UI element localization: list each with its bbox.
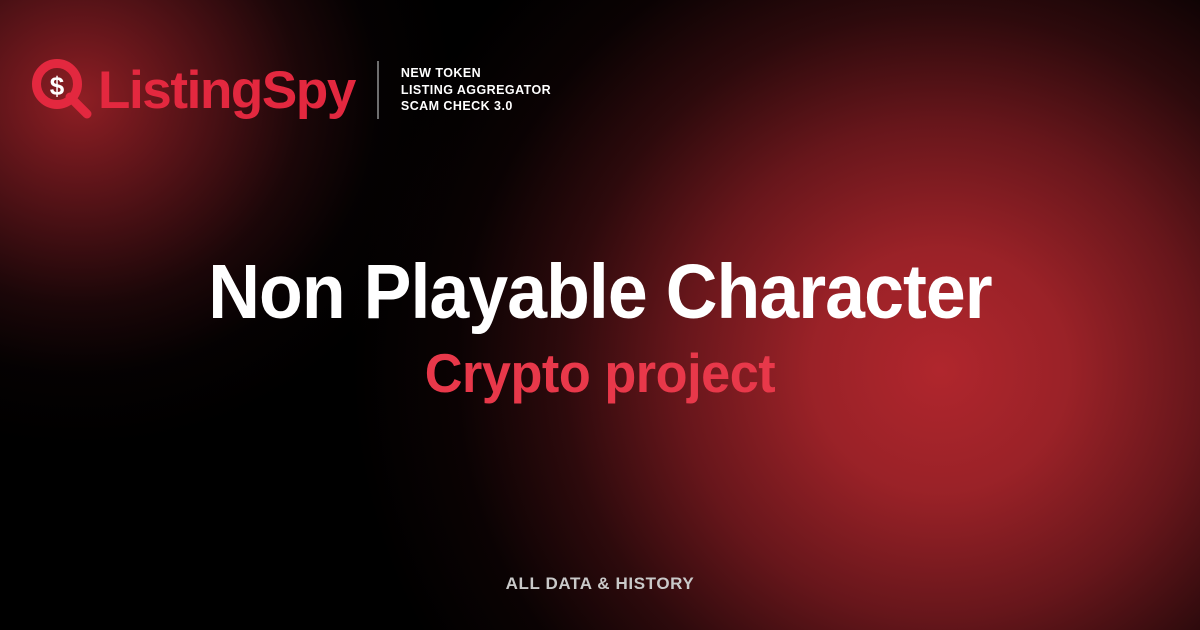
svg-text:$: $: [50, 71, 65, 101]
page-title: Non Playable Character: [42, 248, 1158, 336]
tagline-line-3: SCAM CHECK 3.0: [401, 98, 551, 115]
headline-block: Non Playable Character Crypto project: [0, 248, 1200, 404]
magnifier-dollar-icon: $: [32, 59, 94, 121]
brand-wordmark: ListingSpy: [98, 64, 355, 117]
brand-header[interactable]: $ ListingSpy NEW TOKEN LISTING AGGREGATO…: [32, 54, 551, 126]
header-divider: [377, 61, 379, 119]
page-subtitle: Crypto project: [30, 342, 1170, 404]
share-card: $ ListingSpy NEW TOKEN LISTING AGGREGATO…: [0, 0, 1200, 630]
tagline-line-2: LISTING AGGREGATOR: [401, 82, 551, 99]
footer-text: ALL DATA & HISTORY: [506, 574, 695, 593]
tagline-line-1: NEW TOKEN: [401, 65, 551, 82]
brand-tagline: NEW TOKEN LISTING AGGREGATOR SCAM CHECK …: [401, 65, 551, 115]
footer: ALL DATA & HISTORY: [0, 574, 1200, 594]
